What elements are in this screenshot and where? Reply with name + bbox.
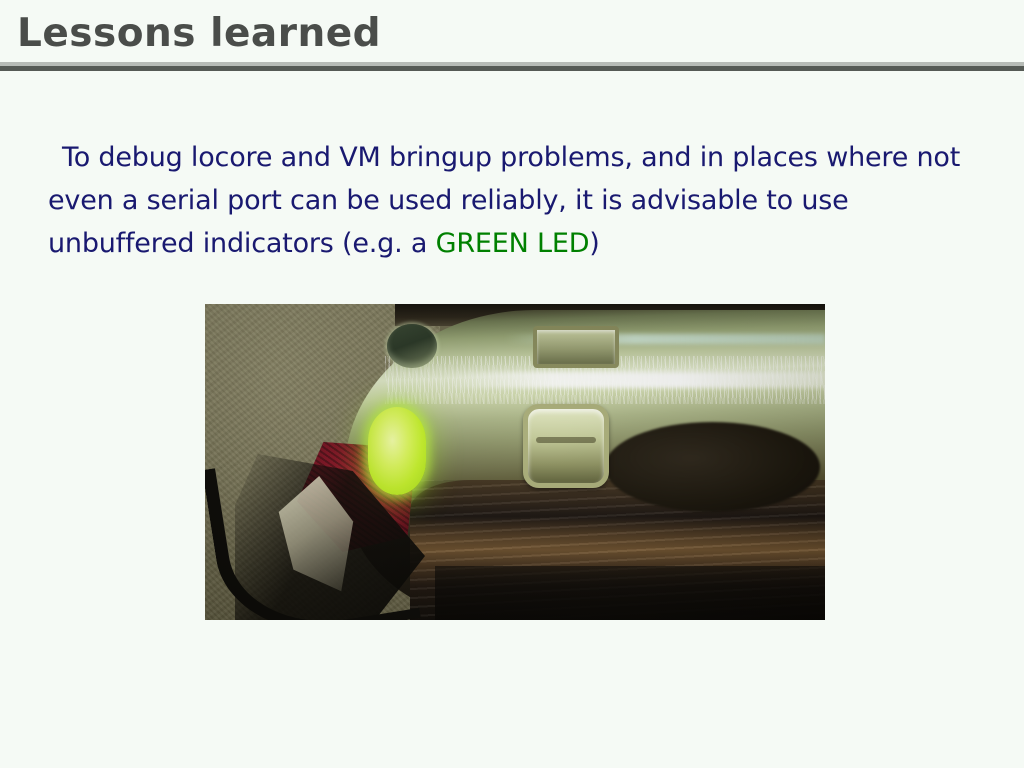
device-recessed-port (533, 326, 619, 368)
led-photograph (205, 304, 825, 620)
divider-dark-line (0, 66, 1024, 71)
body-line-3-suffix: ) (589, 228, 599, 259)
device-right-depression (605, 422, 820, 512)
slide-body-text: To debug locore and VM bringup problems,… (48, 136, 978, 265)
device-unlit-indicator (387, 324, 437, 368)
title-divider (0, 62, 1024, 71)
device-black-edge-curve (205, 440, 421, 620)
device-button (523, 404, 609, 488)
device-specular-highlight (445, 372, 825, 388)
body-line-1: To debug locore and VM bringup problems,… (62, 142, 818, 173)
photo-bottom-shadow (435, 566, 825, 620)
page-title: Lessons learned (17, 11, 381, 56)
green-led-emphasis: GREEN LED (436, 228, 590, 259)
